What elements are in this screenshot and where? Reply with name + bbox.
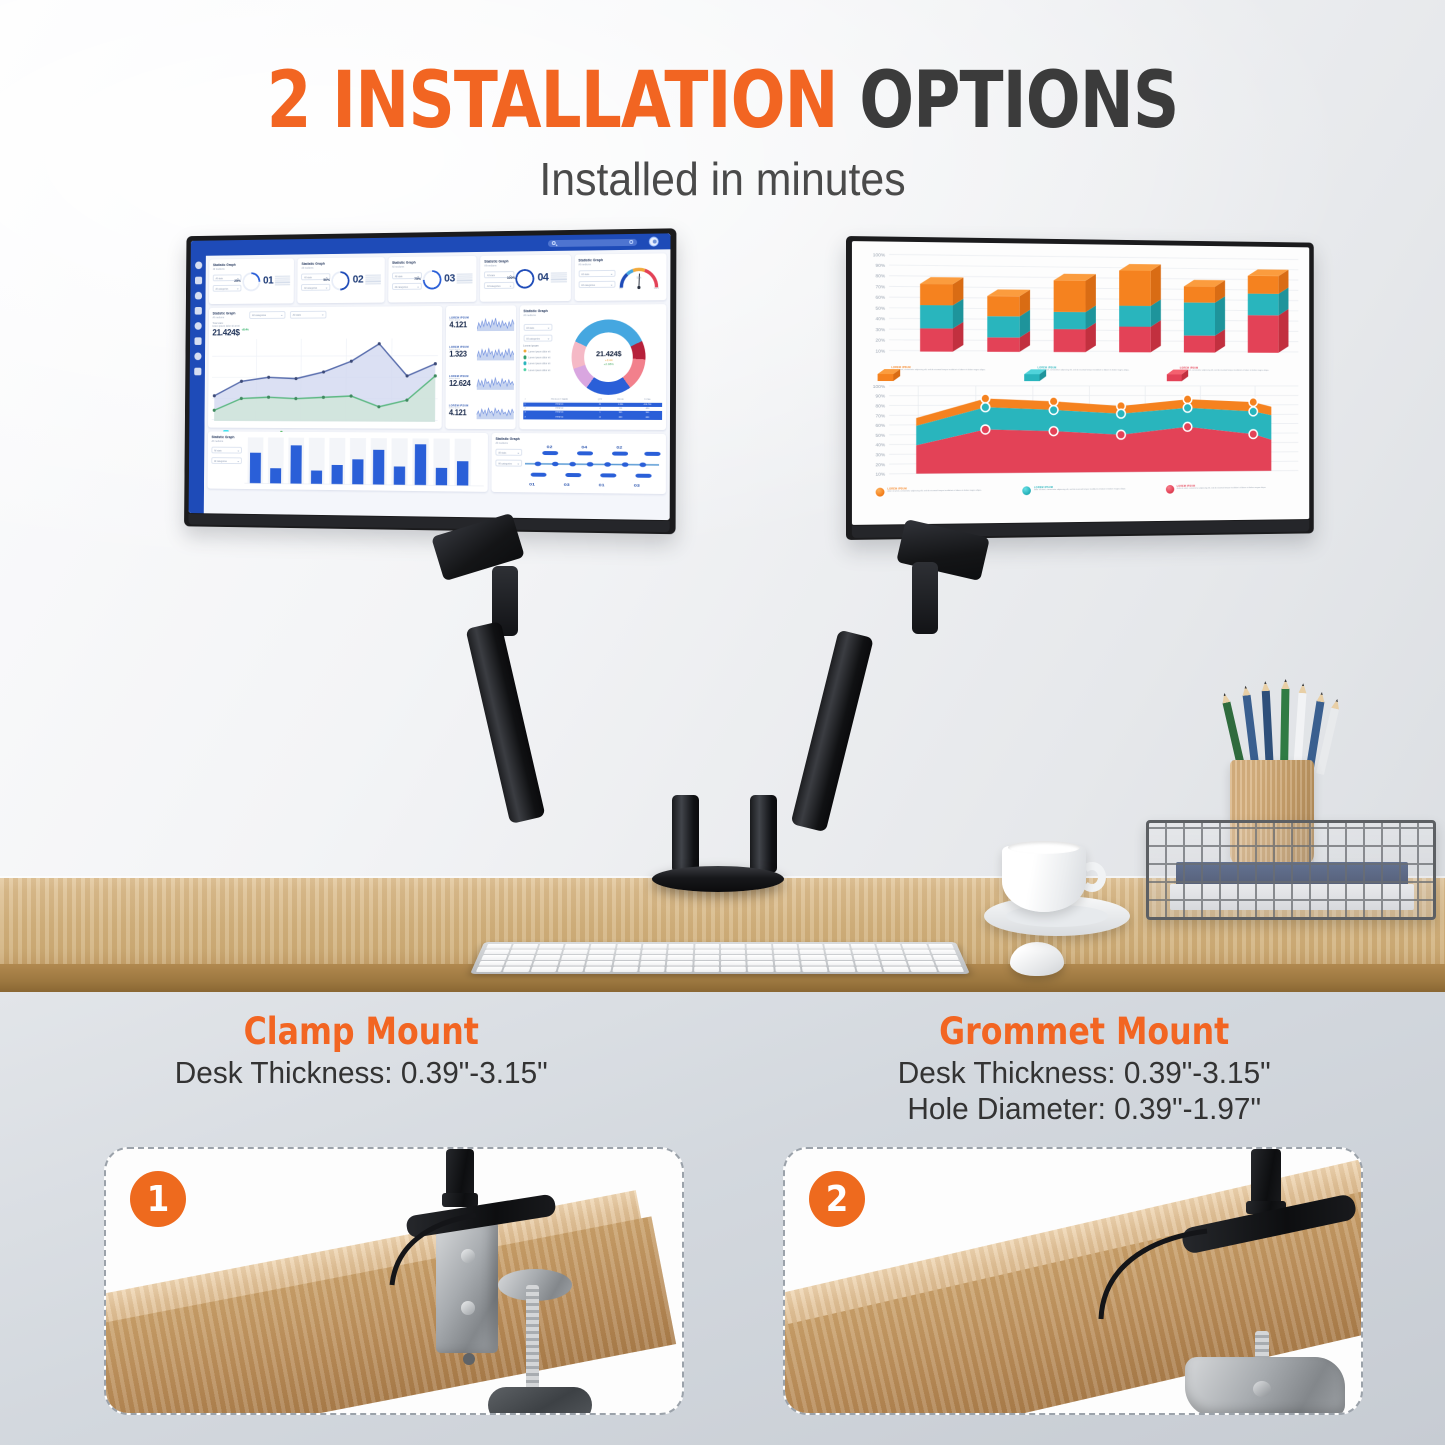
arm-post (1251, 1149, 1281, 1209)
filter-value: All categories (252, 314, 266, 317)
bar-select-stats[interactable]: All stats (211, 447, 242, 454)
legend-item: LOREM IPSUM dolor sit amet, consectetur … (1023, 485, 1161, 495)
stacked-area-chart: 100%90%80% 70%60%50% 40%30%20% 10% (860, 381, 1300, 485)
table-row[interactable]: 4ITEM 04 12899 899 (523, 415, 662, 420)
keyboard-keys (476, 944, 964, 972)
legend-item: Lorem ipsum dolor sit (523, 356, 552, 360)
gauge-chart: 50% 0% 100% (617, 265, 660, 289)
main-card-subtitle: All mediums (212, 316, 244, 319)
kpi-select-value: All categories (487, 285, 501, 288)
svg-text:40%: 40% (875, 316, 885, 322)
timeline-node-label: 02 (616, 445, 623, 449)
donut-subtitle: All mediums (523, 313, 662, 317)
stat-value: 4.121 (449, 410, 474, 418)
kpi-percent: 50% (323, 278, 330, 282)
timeline-title: Statistic Graph (495, 437, 522, 441)
kpi-percent: 100% (507, 275, 516, 279)
kpi-subtitle: All mediums (213, 268, 242, 271)
gauge-mid-label: 50% (636, 277, 641, 279)
arm-base (652, 866, 784, 892)
kpi-card[interactable]: Statistic Graph All mediums All stats Al… (480, 255, 570, 302)
legend-item: LOREM IPSUM dolor sit amet, consectetur … (1166, 484, 1301, 494)
kpi-progress-ring: 50% (331, 270, 351, 291)
wire-basket (1146, 820, 1436, 920)
right-monitor-screen: 100%90%80% 70%60%50% 40%30%20% 10% (852, 241, 1309, 525)
timeline-chart: 0204 02 0103 0103 (522, 437, 662, 490)
total-delta: +20.4% (241, 328, 248, 332)
clamp-title: Clamp Mount (18, 1012, 704, 1051)
total-value-wrap: 21.424$+20.4% (212, 326, 438, 337)
filter-value: All stats (293, 314, 301, 317)
grommet-spec-2: Hole Diameter: 0.39"-1.97" (737, 1091, 1431, 1127)
products-table: # PRODUCT NAME QTY PRICE TOTAL 1ITEM 01 (523, 398, 662, 420)
donut-select-stats[interactable]: All stats (523, 324, 552, 331)
kpi-title: Statistic Graph (392, 261, 422, 265)
kpi-note (457, 273, 473, 284)
gauge-select-categories[interactable]: All categories (578, 281, 615, 288)
dashboard-bottom-row: Statistic Graph All mediums All stats Al… (208, 431, 666, 494)
legend-text: dolor sit amet, consectetur adipiscing e… (887, 490, 981, 494)
kpi-title: Statistic Graph (213, 263, 242, 267)
legend-item: Lorem ipsum dolor sit (523, 368, 552, 372)
svg-text:30%: 30% (875, 327, 885, 333)
legend-item: Lorem ipsum dolor sit (523, 349, 552, 353)
kpi-index: 04 (537, 273, 548, 284)
sidebar-item-user[interactable] (195, 262, 202, 270)
legend-cube-red (1165, 367, 1177, 376)
area-chart-legend: LOREM IPSUM dolor sit amet, consectetur … (860, 484, 1300, 497)
svg-text:40%: 40% (875, 443, 885, 449)
kpi-note (275, 275, 290, 286)
clamp-hole (463, 1353, 475, 1365)
legend-dot-teal (1023, 486, 1032, 495)
kpi-percent: 25% (234, 279, 240, 283)
timeline-select-value: All categories (498, 462, 512, 465)
stat-value: 1.323 (449, 351, 474, 359)
svg-text:20%: 20% (875, 462, 885, 468)
stat-row: LOREM IPSUM lorem ipsum 4.121 (449, 316, 513, 331)
step-badge-2: 2 (809, 1171, 865, 1227)
stat-row: LOREM IPSUM lorem ipsum 12.624 (449, 375, 514, 390)
bar-group (1248, 269, 1289, 353)
timeline-select-categories[interactable]: All categories (495, 460, 522, 467)
svg-text:30%: 30% (875, 452, 885, 458)
grommet-title: Grommet Mount (741, 1012, 1427, 1051)
svg-text:70%: 70% (875, 284, 885, 290)
cable (296, 1205, 486, 1315)
timeline-node-label: 03 (634, 483, 641, 487)
stat-row: LOREM IPSUM lorem ipsum 4.121 (449, 404, 514, 419)
svg-text:10%: 10% (875, 348, 885, 354)
kpi-progress-ring: 75% (422, 269, 443, 291)
kpi-select-categories[interactable]: All categories (392, 283, 422, 290)
timeline-card: Statistic Graph All mediums All stats Al… (491, 433, 666, 494)
legend-item: LOREM IPSUM dolor sit amet, consectetur … (1165, 367, 1300, 376)
bar-group (1119, 264, 1161, 352)
legend-text: dolor sit amet, consectetur adipiscing e… (1034, 488, 1126, 492)
sidebar-item-scissors[interactable] (194, 307, 201, 315)
avatar[interactable] (649, 237, 659, 247)
kpi-select-categories[interactable]: All categories (301, 284, 330, 291)
clamp-caption: Clamp Mount Desk Thickness: 0.39"-3.15" (0, 1012, 723, 1091)
svg-text:50%: 50% (875, 306, 885, 312)
svg-text:60%: 60% (875, 423, 885, 429)
total-value: 21.424$ (212, 328, 239, 338)
kpi-subtitle: All mediums (302, 267, 331, 270)
bar-group (920, 277, 963, 352)
svg-text:90%: 90% (875, 394, 885, 400)
kpi-index: 01 (263, 276, 273, 287)
svg-text:70%: 70% (875, 413, 885, 419)
kpi-row: Statistic Graph All mediums All stats Al… (209, 253, 666, 304)
svg-text:80%: 80% (875, 274, 885, 280)
gauge-title: Statistic Graph (578, 258, 615, 262)
sparkline (476, 404, 513, 419)
analytics-dashboard: Statistic Graph All mediums All stats Al… (189, 233, 671, 520)
legend-text: dolor sit amet, consectetur adipiscing e… (1180, 370, 1269, 373)
main-statistics-card: Statistic Graph All mediums All categori… (208, 306, 442, 429)
sparkline (477, 345, 514, 360)
legend-cube-teal (1022, 366, 1034, 375)
kpi-select-value: All categories (215, 287, 228, 290)
cable (985, 1219, 1215, 1349)
gauge-card[interactable]: Statistic Graph All mediums All stats Al… (574, 253, 666, 301)
mouse[interactable] (1010, 942, 1064, 976)
search-input[interactable] (548, 238, 637, 247)
svg-text:100%: 100% (873, 384, 886, 390)
left-monitor: Statistic Graph All mediums All stats Al… (184, 228, 676, 534)
bar-chart (244, 435, 484, 487)
legend-item: Lorem ipsum dolor sit (523, 362, 552, 366)
infographic-slide: 100%90%80% 70%60%50% 40%30%20% 10% (852, 241, 1309, 525)
keyboard[interactable] (470, 942, 970, 974)
left-monitor-screen: Statistic Graph All mediums All stats Al… (189, 233, 671, 520)
svg-text:100%: 100% (873, 252, 886, 258)
gauge-subtitle: All mediums (578, 263, 615, 266)
left-arm-post (672, 795, 699, 873)
bar-chart-legend: LOREM IPSUM dolor sit amet, consectetur … (860, 366, 1300, 376)
timeline-node-label: 03 (564, 483, 570, 487)
sidebar-item-search[interactable] (194, 322, 201, 330)
svg-text:50%: 50% (875, 433, 885, 439)
grommet-mount-detail: 2 (783, 1147, 1363, 1415)
timeline-node-label: 04 (581, 445, 588, 449)
kpi-select-categories[interactable]: All categories (484, 282, 514, 289)
dashboard-body: Statistic Graph All mediums All stats Al… (204, 249, 671, 520)
stacked-column-chart-3d: 100%90%80% 70%60%50% 40%30%20% 10% (860, 248, 1300, 364)
legend-text: dolor sit amet, consectetur adipiscing e… (1038, 369, 1130, 372)
kpi-select-categories[interactable]: All categories (213, 285, 242, 292)
stat-value: 4.121 (449, 322, 474, 330)
coffee-cup (1002, 846, 1086, 912)
legend-cube-orange (876, 366, 889, 375)
filter-categories[interactable]: All categories (249, 311, 285, 319)
main-card-title: Statistic Graph (213, 311, 245, 315)
bar-group (1054, 274, 1096, 353)
svg-text:20%: 20% (875, 338, 885, 344)
donut-select-categories[interactable]: All categories (523, 335, 552, 342)
donut-card: Statistic Graph All mediums All stats Al… (519, 304, 666, 430)
legend-dot-red (1166, 485, 1174, 494)
kpi-note (365, 274, 381, 285)
svg-text:90%: 90% (875, 263, 885, 269)
donut-center-value: 21.424$ (596, 349, 621, 358)
timeline-select-value: All stats (498, 451, 506, 454)
stat-row: LOREM IPSUM lorem ipsum 1.323 (449, 345, 513, 360)
clamp-spec-1: Desk Thickness: 0.39"-3.15" (14, 1055, 708, 1091)
kpi-select-value: All stats (487, 274, 495, 277)
timeline-subtitle: All mediums (495, 442, 522, 445)
donut-select-value: All stats (526, 326, 534, 329)
grommet-spec-1: Desk Thickness: 0.39"-3.15" (737, 1055, 1431, 1091)
gauge-select-value: All stats (581, 273, 589, 276)
kpi-percent: 75% (414, 277, 421, 281)
bar-select-value: All stats (214, 449, 222, 452)
donut-select-value: All categories (526, 337, 540, 340)
legend-dot-orange (876, 488, 885, 497)
kpi-select-value: All categories (304, 286, 317, 289)
right-monitor: 100%90%80% 70%60%50% 40%30%20% 10% (846, 236, 1314, 540)
bar-chart-card: Statistic Graph All mediums All stats Al… (208, 431, 488, 491)
kpi-title: Statistic Graph (302, 262, 331, 266)
sparkline (477, 316, 514, 331)
timeline-node-label: 01 (599, 483, 606, 487)
kpi-subtitle: All mediums (484, 264, 514, 267)
svg-text:60%: 60% (875, 295, 885, 301)
gauge-min-label: 0% (619, 288, 622, 289)
grommet-caption: Grommet Mount Desk Thickness: 0.39"-3.15… (723, 1012, 1445, 1127)
bar-card-title: Statistic Graph (212, 435, 243, 439)
kpi-card[interactable]: Statistic Graph All mediums All stats Al… (298, 257, 385, 303)
timeline-select-stats[interactable]: All stats (495, 449, 522, 456)
step-badge-1: 1 (130, 1171, 186, 1227)
legend-item: LOREM IPSUM dolor sit amet, consectetur … (1022, 366, 1161, 375)
sidebar-item-chart[interactable] (195, 277, 202, 285)
search-icon (552, 241, 556, 245)
right-arm-joint (912, 562, 938, 634)
filter-stats[interactable]: All stats (290, 311, 327, 319)
bar-group (987, 289, 1030, 352)
donut-legend: Lorem ipsum Lorem ipsum dolor sit Lorem … (523, 345, 552, 371)
kpi-subtitle: All mediums (392, 265, 422, 268)
area-line-chart (212, 338, 438, 427)
legend-item: LOREM IPSUM dolor sit amet, consectetur … (876, 366, 1019, 375)
clamp-mount-detail: 1 (104, 1147, 684, 1415)
stat-value: 12.624 (449, 380, 474, 388)
kpi-select-value: All categories (395, 286, 408, 289)
donut-center: 21.424$ +3.44 +2.08% (556, 319, 663, 395)
gauge-max-label: 100% (653, 287, 659, 289)
kpi-card[interactable]: Statistic Graph All mediums All stats Al… (388, 256, 477, 303)
kpi-index: 02 (353, 275, 364, 286)
filter-icon (630, 240, 634, 244)
page-subtitle: Installed in minutes (51, 152, 1395, 206)
stat-list-card: LOREM IPSUM lorem ipsum 4.121 (445, 305, 516, 429)
legend-item: LOREM IPSUM dolor sit amet, consectetur … (876, 486, 1018, 496)
svg-text:10%: 10% (875, 472, 885, 478)
clamp-t-handle (488, 1387, 592, 1415)
kpi-note (550, 272, 566, 283)
bar-select-value: All categories (214, 460, 227, 463)
kpi-index: 03 (444, 274, 455, 285)
product-infographic: 2 INSTALLATION OPTIONS Installed in minu… (0, 0, 1445, 1445)
gauge-select-stats[interactable]: All stats (578, 270, 615, 277)
kpi-select-value: All stats (395, 275, 403, 278)
page-title: 2 INSTALLATION OPTIONS (58, 62, 1387, 140)
title-orange: 2 INSTALLATION (267, 56, 838, 146)
timeline-node-label: 01 (529, 482, 535, 486)
svg-text:80%: 80% (875, 403, 885, 409)
kpi-progress-ring: 25% (241, 271, 261, 292)
kpi-progress-ring: 100% (514, 267, 535, 289)
hero-scene: 2 INSTALLATION OPTIONS Installed in minu… (0, 0, 1445, 992)
sparkline (476, 375, 513, 390)
title-dark: OPTIONS (859, 56, 1178, 146)
bar-card-subtitle: All mediums (211, 440, 242, 443)
timeline-node-label: 02 (547, 445, 553, 449)
sidebar-item-person[interactable] (194, 368, 201, 376)
kpi-card[interactable]: Statistic Graph All mediums All stats Al… (209, 258, 294, 304)
donut-legend-title: Lorem ipsum (523, 345, 552, 347)
kpi-select-value: All stats (215, 277, 223, 280)
sidebar-item-cloud[interactable] (194, 292, 201, 300)
right-arm-post (750, 795, 777, 873)
kpi-title: Statistic Graph (484, 259, 514, 263)
grommet-plate-screw (1253, 1381, 1271, 1397)
donut-center-pct: +2.08% (604, 362, 614, 366)
bar-group (1184, 280, 1225, 353)
legend-text: dolor sit amet, consectetur adipiscing e… (891, 369, 985, 372)
bar-select-categories[interactable]: All categories (211, 457, 242, 464)
kpi-select-value: All stats (304, 276, 312, 279)
dashboard-middle-row: Statistic Graph All mediums All categori… (208, 304, 666, 430)
sidebar-item-camera[interactable] (194, 337, 201, 345)
gauge-select-value: All categories (581, 284, 595, 287)
sidebar-item-gear[interactable] (194, 353, 201, 361)
legend-text: dolor sit amet, consectetur adipiscing e… (1177, 487, 1266, 490)
